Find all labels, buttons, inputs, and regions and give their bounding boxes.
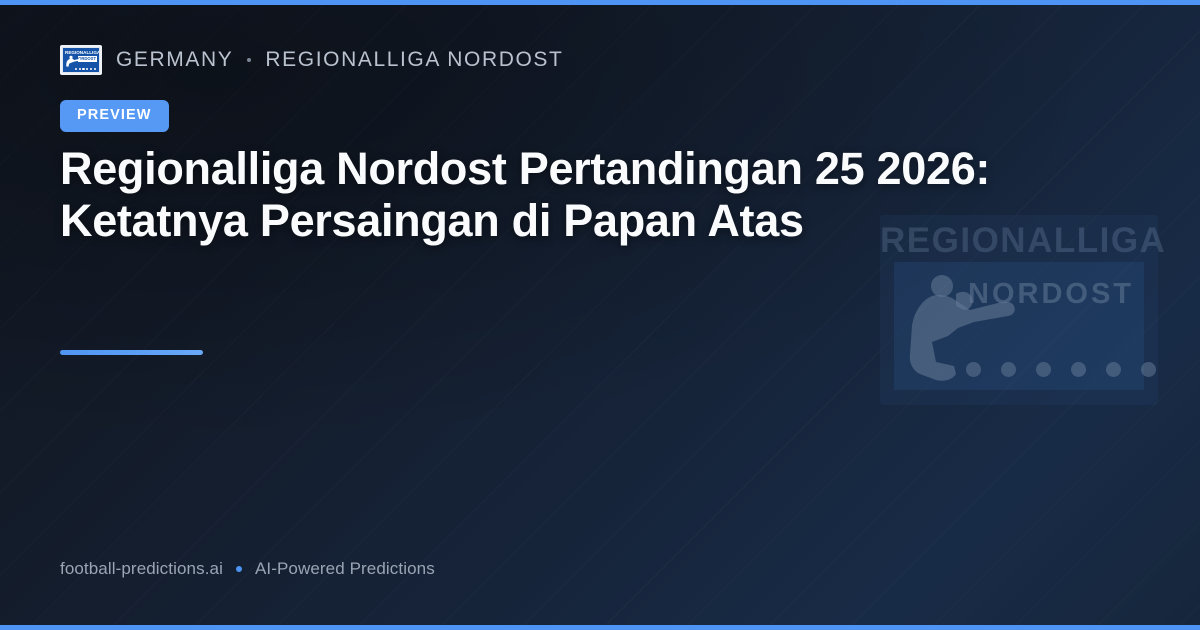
league-logo-inner: REGIONALLIGA NORDOST	[62, 47, 100, 73]
status-badge: PREVIEW	[60, 100, 169, 132]
league-logo-dot	[82, 68, 84, 70]
breadcrumb-separator-dot	[247, 58, 251, 62]
card-content: REGIONALLIGA NORDOST	[60, 0, 1140, 630]
footer-tagline: AI-Powered Predictions	[255, 559, 435, 579]
footer-separator-dot	[236, 566, 242, 572]
league-logo-dot-row	[75, 68, 96, 70]
league-logo-dot	[75, 68, 77, 70]
social-preview-card: REGIONALLIGA NORDOST	[0, 0, 1200, 630]
footer-site-name[interactable]: football-predictions.ai	[60, 559, 223, 579]
league-logo-dot	[79, 68, 81, 70]
watermark-dot	[1141, 362, 1156, 377]
accent-underline	[60, 350, 203, 355]
bottom-accent-border	[0, 625, 1200, 630]
breadcrumb: REGIONALLIGA NORDOST	[60, 44, 563, 76]
league-logo-dot	[94, 68, 96, 70]
breadcrumb-country[interactable]: GERMANY	[116, 48, 233, 72]
page-title: Regionalliga Nordost Pertandingan 25 202…	[60, 143, 1060, 247]
league-logo-icon: REGIONALLIGA NORDOST	[60, 45, 102, 75]
top-accent-border	[0, 0, 1200, 5]
breadcrumb-competition[interactable]: REGIONALLIGA NORDOST	[265, 48, 563, 72]
league-logo-dot	[86, 68, 88, 70]
league-logo-dot	[90, 68, 92, 70]
footer: football-predictions.ai AI-Powered Predi…	[60, 558, 435, 580]
